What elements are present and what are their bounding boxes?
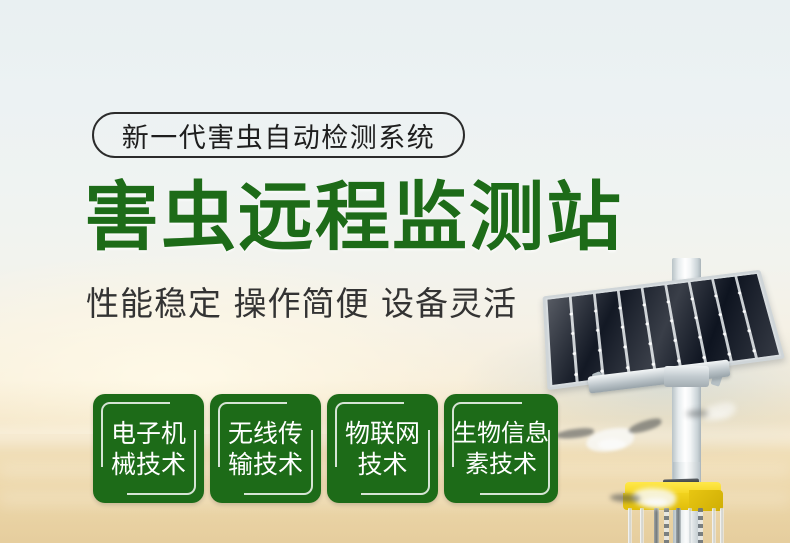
moth-2 [610, 478, 696, 520]
page-subtitle: 性能稳定 操作简便 设备灵活 [86, 284, 517, 324]
badge-label: 新一代害虫自动检测系统 [122, 116, 436, 155]
page-title: 害虫远程监测站 [84, 176, 623, 258]
feature-tag-3-label: 物联网技术 [334, 418, 432, 480]
feature-tag-4[interactable]: 生物信息素技术 [444, 394, 558, 503]
pest-monitoring-station-poster: 新一代害虫自动检测系统 害虫远程监测站 性能稳定 操作简便 设备灵活 电子机械技… [0, 0, 790, 543]
feature-tag-list: 电子机械技术 无线传输技术 物联网技术 生物信息素技术 [93, 394, 558, 503]
moth-1 [556, 415, 662, 467]
feature-tag-1-label: 电子机械技术 [100, 418, 198, 480]
feature-tag-1[interactable]: 电子机械技术 [93, 394, 204, 503]
feature-tag-2-label: 无线传输技术 [217, 418, 315, 480]
feature-tag-2[interactable]: 无线传输技术 [210, 394, 321, 503]
feature-tag-4-label: 生物信息素技术 [449, 418, 553, 480]
moth-3 [686, 398, 750, 428]
pole-collar [664, 366, 709, 387]
subtitle-badge: 新一代害虫自动检测系统 [92, 112, 465, 158]
feature-tag-3[interactable]: 物联网技术 [327, 394, 438, 503]
